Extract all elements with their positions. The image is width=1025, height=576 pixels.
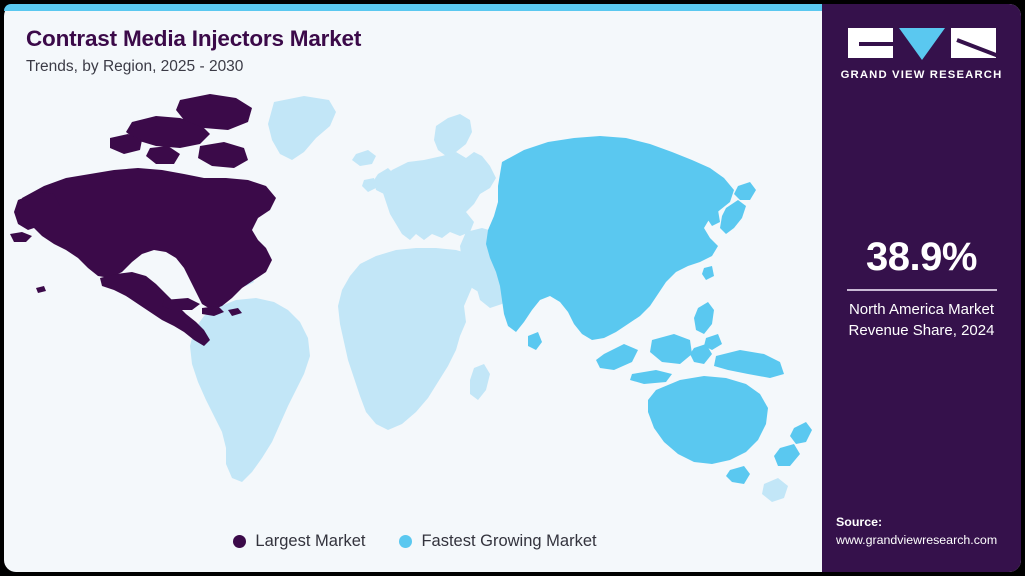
infographic-root: Contrast Media Injectors Market Trends, … — [0, 0, 1025, 576]
stat-caption-line-1: North America Market — [832, 300, 1011, 321]
brand-logo: GRAND VIEW RESEARCH — [822, 28, 1021, 81]
source-label: Source: — [836, 514, 1016, 532]
logo-v-triangle-icon — [899, 28, 945, 60]
brand-logo-marks — [848, 28, 996, 60]
legend-item-largest-market: Largest Market — [233, 532, 365, 551]
legend-dot-icon — [399, 535, 412, 548]
page-title: Contrast Media Injectors Market — [26, 26, 786, 52]
stat-block: 38.9% North America Market Revenue Share… — [822, 236, 1021, 341]
stat-caption: North America Market Revenue Share, 2024 — [832, 300, 1011, 341]
world-map-svg — [4, 82, 826, 512]
legend-label-largest-market: Largest Market — [255, 532, 365, 551]
page-subtitle: Trends, by Region, 2025 - 2030 — [26, 58, 786, 77]
legend-dot-icon — [233, 535, 246, 548]
world-map — [4, 82, 826, 512]
stat-divider — [847, 289, 997, 291]
map-legend: Largest Market Fastest Growing Market — [4, 532, 826, 551]
stat-caption-line-2: Revenue Share, 2024 — [832, 321, 1011, 342]
source-url[interactable]: www.grandviewresearch.com — [836, 532, 1016, 550]
brand-panel: GRAND VIEW RESEARCH 38.9% North America … — [822, 4, 1021, 572]
legend-item-fastest-growing-market: Fastest Growing Market — [399, 532, 596, 551]
stat-value: 38.9% — [832, 236, 1011, 278]
top-accent-bar — [4, 4, 822, 11]
logo-g-icon — [848, 28, 893, 58]
legend-label-fastest-growing-market: Fastest Growing Market — [421, 532, 596, 551]
header: Contrast Media Injectors Market Trends, … — [26, 26, 786, 76]
source-block: Source: www.grandviewresearch.com — [836, 514, 1016, 550]
logo-r-icon — [951, 28, 996, 58]
brand-wordmark: GRAND VIEW RESEARCH — [841, 69, 1003, 81]
